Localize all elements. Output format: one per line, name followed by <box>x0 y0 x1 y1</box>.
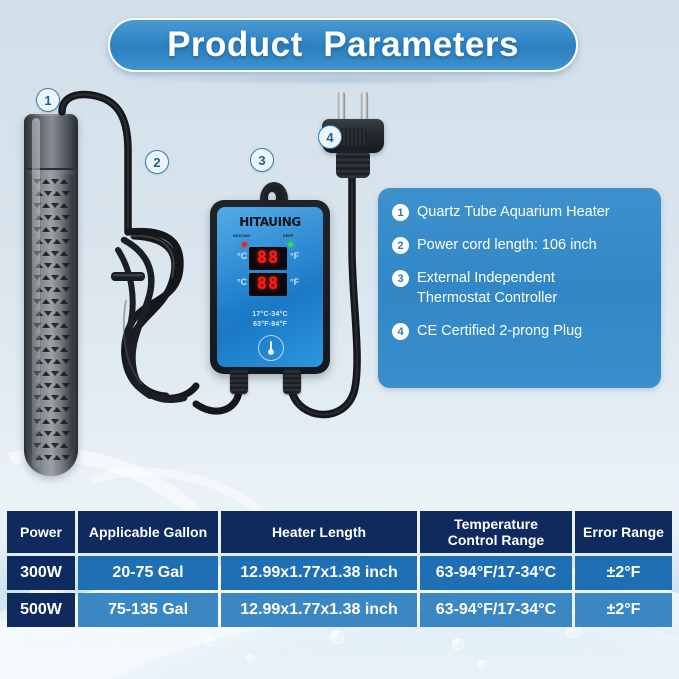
spec-table: Power Applicable Gallon Heater Length Te… <box>7 511 672 630</box>
water-bubble <box>478 660 487 669</box>
guard-perforation <box>42 275 50 280</box>
guard-perforation <box>62 311 70 316</box>
guard-perforation <box>62 263 70 268</box>
fahrenheit-unit-label-bottom: °F <box>290 277 299 287</box>
guard-perforation <box>42 203 50 208</box>
temperature-display-bottom: 88 <box>249 273 287 296</box>
title-shadow <box>136 74 550 86</box>
guard-perforation <box>60 443 68 448</box>
feature-line-1: CE Certified 2-prong Plug <box>417 323 582 339</box>
guard-perforation <box>51 227 59 232</box>
guard-perforation <box>60 203 68 208</box>
table-row: 300W 20-75 Gal 12.99x1.77x1.38 inch 63-9… <box>7 556 672 590</box>
cell-temp-range: 63-94°F/17-34°C <box>420 556 572 590</box>
guard-perforation <box>51 275 59 280</box>
guard-perforation <box>42 227 50 232</box>
guard-perforation <box>60 275 68 280</box>
guard-perforation <box>53 455 61 460</box>
guard-perforation <box>53 215 61 220</box>
callout-badge-4: 4 <box>318 125 342 149</box>
controller-faceplate: HITAUING HEATING KEEP °C °F 88 °C °F 88 … <box>217 207 323 367</box>
guard-perforation <box>42 347 50 352</box>
display-value-top: 88 <box>257 250 279 267</box>
guard-perforation <box>44 431 52 436</box>
cell-error: ±2°F <box>575 556 672 590</box>
feature-number: 2 <box>392 237 409 254</box>
thermometer-icon <box>268 341 274 355</box>
guard-perforation <box>53 359 61 364</box>
table-row: 500W 75-135 Gal 12.99x1.77x1.38 inch 63-… <box>7 593 672 627</box>
feature-number: 4 <box>392 323 409 340</box>
guard-perforation <box>44 287 52 292</box>
feature-text: CE Certified 2-prong Plug <box>417 321 582 341</box>
guard-perforation <box>51 251 59 256</box>
guard-perforation <box>42 179 50 184</box>
plug-prong-left <box>338 92 345 122</box>
feature-number: 1 <box>392 204 409 221</box>
guard-perforation <box>53 335 61 340</box>
cell-temp-range: 63-94°F/17-34°C <box>420 593 572 627</box>
plug-prong-right <box>361 92 368 122</box>
heating-led <box>242 242 247 247</box>
cell-power: 500W <box>7 593 75 627</box>
guard-perforation <box>62 287 70 292</box>
guard-perforation <box>60 395 68 400</box>
plug-strain-relief <box>336 150 370 178</box>
guard-perforation <box>62 455 70 460</box>
cell-power: 300W <box>7 556 75 590</box>
celsius-unit-label-top: °C <box>237 251 247 261</box>
feature-item: 2 Power cord length: 106 inch <box>392 235 649 255</box>
guard-perforation <box>42 323 50 328</box>
column-header-temperature-line2: Control Range <box>448 532 544 548</box>
cord-strain-relief-right <box>283 368 301 394</box>
column-header-temperature: Temperature Control Range <box>420 511 572 553</box>
guard-perforation <box>42 443 50 448</box>
guard-perforation <box>53 239 61 244</box>
feature-line-2: Thermostat Controller <box>417 288 557 308</box>
guard-perforation <box>53 311 61 316</box>
quartz-tube-heater <box>24 114 78 476</box>
guard-perforation <box>42 251 50 256</box>
fahrenheit-unit-label-top: °F <box>290 251 299 261</box>
water-bubble <box>452 638 464 650</box>
feature-text: Quartz Tube Aquarium Heater <box>417 202 610 222</box>
guard-perforation <box>60 179 68 184</box>
feature-text: Power cord length: 106 inch <box>417 235 597 255</box>
guard-perforation <box>51 179 59 184</box>
guard-perforation <box>44 455 52 460</box>
guard-perforation <box>53 191 61 196</box>
cell-gallon: 75-135 Gal <box>78 593 218 627</box>
water-bubble <box>205 636 215 646</box>
guard-perforation <box>60 347 68 352</box>
temperature-display-top: 88 <box>249 247 287 270</box>
column-header-temperature-line1: Temperature <box>454 516 538 532</box>
callout-badge-1: 1 <box>36 88 60 112</box>
cell-length: 12.99x1.77x1.38 inch <box>221 556 417 590</box>
display-value-bottom: 88 <box>257 276 279 293</box>
water-bubble <box>330 630 344 644</box>
range-celsius-label: 17°C-34°C <box>217 311 323 318</box>
callout-badge-3: 3 <box>250 148 274 172</box>
guard-perforation <box>53 407 61 412</box>
guard-perforation <box>62 407 70 412</box>
guard-perforation <box>60 299 68 304</box>
guard-perforation <box>62 215 70 220</box>
guard-perforation <box>53 287 61 292</box>
guard-perforation <box>62 239 70 244</box>
cord-strain-relief-left <box>230 368 248 394</box>
cell-gallon: 20-75 Gal <box>78 556 218 590</box>
feature-item: 4 CE Certified 2-prong Plug <box>392 321 649 341</box>
feature-line-1: Quartz Tube Aquarium Heater <box>417 204 610 220</box>
guard-perforation <box>44 215 52 220</box>
guard-perforation <box>51 443 59 448</box>
column-header-gallon: Applicable Gallon <box>78 511 218 553</box>
guard-perforation <box>42 371 50 376</box>
guard-perforation <box>60 251 68 256</box>
cell-length: 12.99x1.77x1.38 inch <box>221 593 417 627</box>
controller-shell: HITAUING HEATING KEEP °C °F 88 °C °F 88 … <box>210 200 330 374</box>
guard-perforation <box>51 419 59 424</box>
page-title: Product Parameters <box>108 18 578 72</box>
guard-perforation <box>44 263 52 268</box>
water-bubble <box>246 654 255 663</box>
guard-perforation <box>62 383 70 388</box>
title-text: Product Parameters <box>167 25 519 65</box>
guard-perforation <box>51 347 59 352</box>
guard-perforation <box>51 299 59 304</box>
guard-perforation <box>62 191 70 196</box>
guard-perforation <box>60 323 68 328</box>
column-header-error: Error Range <box>575 511 672 553</box>
feature-number: 3 <box>392 270 409 287</box>
heater-highlight <box>32 118 40 468</box>
table-header-row: Power Applicable Gallon Heater Length Te… <box>7 511 672 553</box>
guard-perforation <box>62 335 70 340</box>
guard-perforation <box>60 371 68 376</box>
guard-perforation <box>62 359 70 364</box>
guard-perforation <box>42 395 50 400</box>
guard-perforation <box>44 191 52 196</box>
guard-perforation <box>51 371 59 376</box>
feature-line-1: External Independent <box>417 270 555 286</box>
title-banner: Product Parameters <box>108 18 578 72</box>
guard-perforation <box>51 395 59 400</box>
thermostat-controller: HITAUING HEATING KEEP °C °F 88 °C °F 88 … <box>210 182 330 374</box>
callout-badge-2: 2 <box>145 150 169 174</box>
feature-line-1: Power cord length: 106 inch <box>417 237 597 253</box>
guard-perforation <box>62 431 70 436</box>
column-header-length: Heater Length <box>221 511 417 553</box>
feature-text: External Independent Thermostat Controll… <box>417 268 557 308</box>
keep-led <box>288 242 293 247</box>
guard-perforation <box>44 359 52 364</box>
guard-perforation <box>51 323 59 328</box>
cell-error: ±2°F <box>575 593 672 627</box>
guard-perforation <box>44 335 52 340</box>
feature-item: 1 Quartz Tube Aquarium Heater <box>392 202 649 222</box>
celsius-unit-label-bottom: °C <box>237 277 247 287</box>
guard-perforation <box>42 299 50 304</box>
guard-perforation <box>53 383 61 388</box>
column-header-power: Power <box>7 511 75 553</box>
guard-perforation <box>60 419 68 424</box>
guard-perforation <box>42 419 50 424</box>
heating-led-label: HEATING <box>233 234 250 238</box>
guard-perforation <box>44 239 52 244</box>
range-fahrenheit-label: 63°F-94°F <box>217 321 323 328</box>
guard-perforation <box>44 407 52 412</box>
guard-perforation <box>60 227 68 232</box>
feature-item: 3 External Independent Thermostat Contro… <box>392 268 649 308</box>
guard-perforation <box>53 431 61 436</box>
guard-perforation <box>44 383 52 388</box>
guard-perforation <box>53 263 61 268</box>
keep-led-label: KEEP <box>283 234 294 238</box>
guard-perforation <box>44 311 52 316</box>
set-temperature-button[interactable] <box>258 335 284 361</box>
features-panel: 1 Quartz Tube Aquarium Heater 2 Power co… <box>378 188 661 388</box>
brand-label: HITAUING <box>217 215 323 229</box>
guard-perforation <box>51 203 59 208</box>
